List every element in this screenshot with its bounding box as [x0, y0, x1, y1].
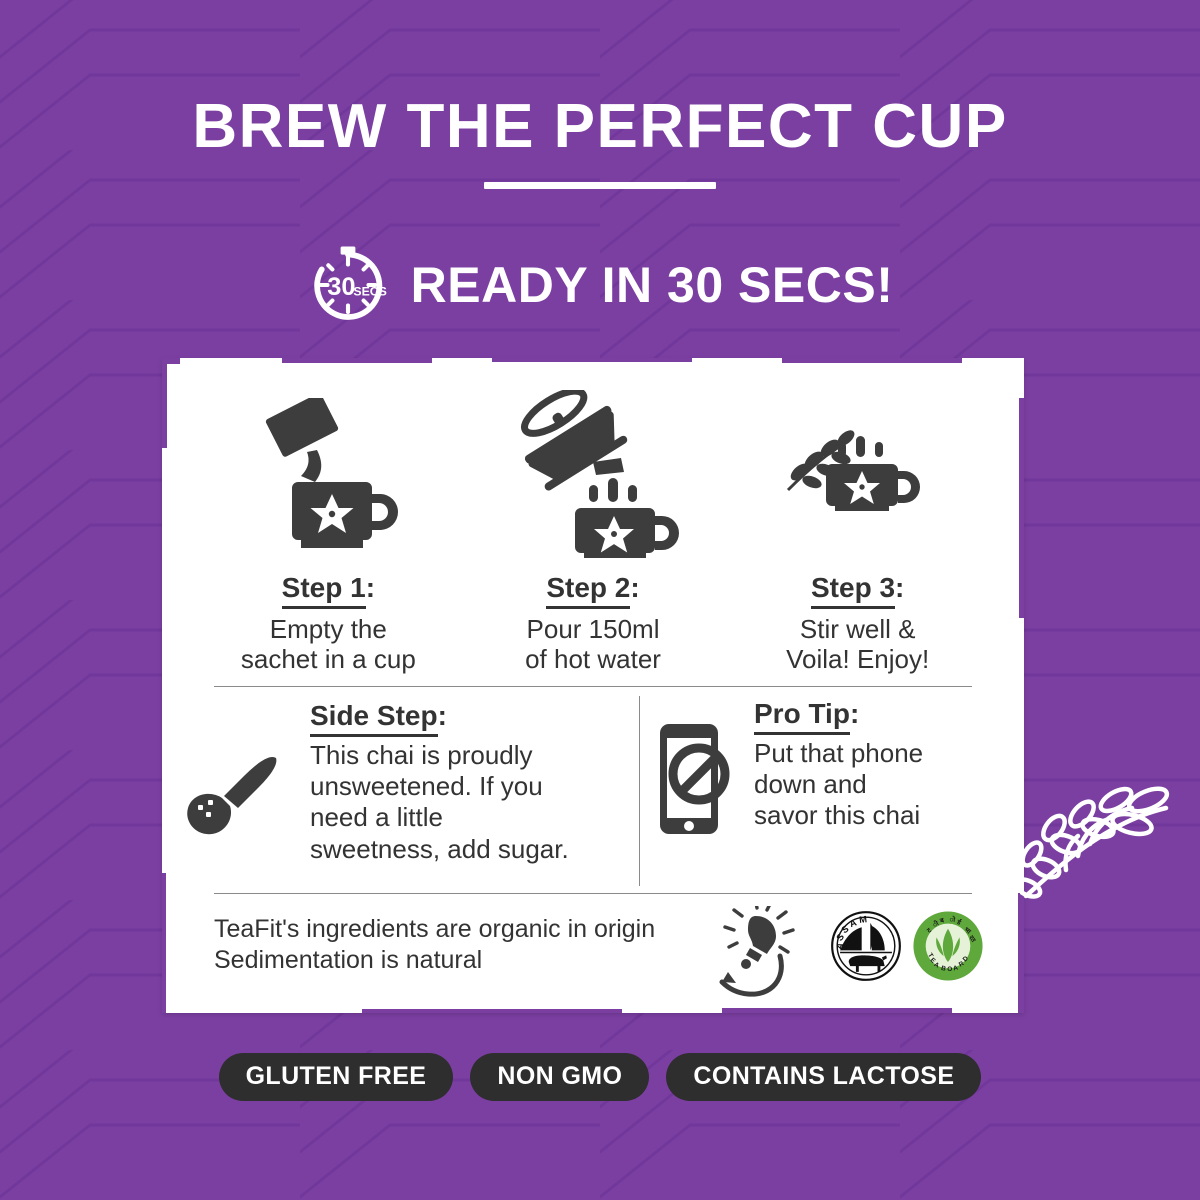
svg-text:ो: ो [949, 916, 955, 924]
step-1-illustration [253, 388, 403, 558]
assam-certification-badge: ASSAM A S S A M [830, 910, 902, 982]
no-phone-icon [656, 720, 734, 838]
tips-row: Side Step: This chai is proudly unsweete… [162, 698, 1024, 888]
stopwatch-30-secs-icon: 30 SECS [307, 244, 389, 326]
step-3-illustration [778, 388, 938, 558]
pro-tip-title: Pro Tip: [754, 698, 923, 730]
certification-badges: ASSAM A S S A M [830, 910, 984, 982]
side-step-block: Side Step: This chai is proudly unsweete… [180, 698, 630, 865]
pro-tip-illustration [656, 698, 740, 843]
steps-row: Step 1: Empty the sachet in a cup [196, 388, 990, 688]
ready-in-label: READY IN 30 SECS! [411, 260, 894, 310]
svg-text:M: M [859, 914, 868, 925]
footer-note-text: TeaFit's ingredients are organic in orig… [214, 914, 655, 977]
divider-top [214, 686, 972, 687]
step-2-illustration [507, 388, 679, 558]
divider-bottom [214, 893, 972, 894]
title-underline-rule [484, 182, 716, 189]
step-3-title: Step 3: [811, 572, 904, 604]
side-step-title: Side Step: [310, 700, 569, 732]
pro-tip-block: Pro Tip: Put that phone down and savor t… [656, 698, 1016, 843]
sachet-pour-into-mug-icon [253, 398, 403, 558]
page-title: BREW THE PERFECT CUP [0, 96, 1200, 158]
timer-number: 30 [327, 273, 355, 301]
step-2-description: Pour 150ml of hot water [525, 614, 661, 674]
side-step-illustration [180, 698, 310, 855]
step-2-title: Step 2: [546, 572, 639, 604]
sugar-spoon-icon [180, 750, 290, 850]
pill-contains-lactose[interactable]: CONTAINS LACTOSE [666, 1053, 981, 1101]
footer-note-row: TeaFit's ingredients are organic in orig… [214, 906, 994, 1002]
footer-bulb-arrow [704, 906, 814, 1007]
tea-board-india-badge: ट ी ब ो र्ड भा रत T E A B O A R [912, 910, 984, 982]
step-3-description: Stir well & Voila! Enjoy! [786, 614, 929, 674]
attribute-pills: GLUTEN FREE NON GMO CONTAINS LACTOSE [0, 1053, 1200, 1101]
step-1-title: Step 1: [282, 572, 375, 604]
instruction-card: Step 1: Empty the sachet in a cup [162, 358, 1024, 1013]
step-item-1: Step 1: Empty the sachet in a cup [196, 388, 461, 688]
pro-tip-body: Put that phone down and savor this chai [754, 738, 923, 832]
kettle-pour-into-mug-icon [507, 390, 679, 558]
step-item-2: Step 2: Pour 150ml of hot water [461, 388, 726, 688]
lightbulb-idea-icon [704, 906, 814, 1002]
step-1-description: Empty the sachet in a cup [241, 614, 416, 674]
side-step-body: This chai is proudly unsweetened. If you… [310, 740, 569, 865]
decorative-vine [1020, 762, 1200, 907]
pill-gluten-free[interactable]: GLUTEN FREE [219, 1053, 454, 1101]
leafy-vine-decoration-icon [1020, 762, 1200, 902]
svg-text:O: O [947, 966, 952, 973]
herb-branch-steaming-mug-icon [778, 428, 938, 558]
ready-in-banner: 30 SECS READY IN 30 SECS! [0, 244, 1200, 326]
pill-non-gmo[interactable]: NON GMO [470, 1053, 649, 1101]
timer-unit: SECS [353, 285, 387, 299]
step-item-3: Step 3: Stir well & Voila! Enjoy! [725, 388, 990, 688]
